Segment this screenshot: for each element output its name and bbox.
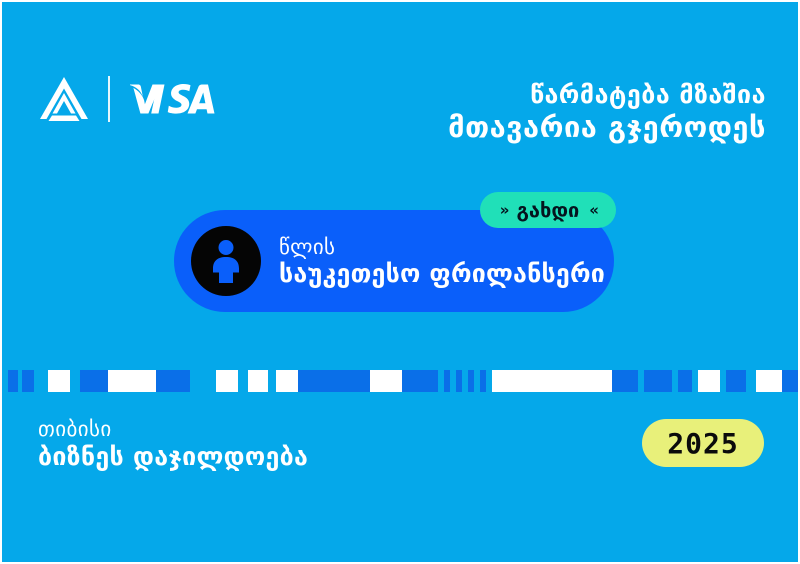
barcode-bar [248, 370, 268, 392]
tbc-triangle-logo [40, 77, 88, 121]
award-block: » გახდი « წლის საუკეთესო ფრილანსერი [2, 192, 800, 327]
barcode-bar [216, 370, 238, 392]
barcode-bar [678, 370, 692, 392]
barcode-bar [612, 370, 638, 392]
barcode-bar [80, 370, 108, 392]
barcode-bar [108, 370, 156, 392]
barcode-bar [492, 370, 612, 392]
footer-title: ბიზნეს დაჯილდოება [38, 442, 308, 472]
banner-header: წარმატება მზაშია მთავარია გჯეროდეს [2, 2, 800, 172]
barcode-bar [190, 370, 216, 392]
year-badge: 2025 [642, 419, 764, 467]
barcode-bar [756, 370, 782, 392]
barcode-bar [402, 370, 438, 392]
barcode-bar [70, 370, 80, 392]
barcode-bar [782, 370, 800, 392]
award-badge-label: გახდი [516, 198, 579, 222]
award-kicker: წლის [279, 235, 605, 259]
brand-divider [108, 76, 110, 122]
brand-lockup [40, 76, 222, 122]
barcode-bar [156, 370, 190, 392]
banner-footer: თიბისი ბიზნეს დაჯილდოება 2025 [2, 407, 800, 477]
award-banner: წარმატება მზაშია მთავარია გჯეროდეს » გახ… [0, 0, 800, 564]
barcode-bar [726, 370, 746, 392]
year-badge-label: 2025 [667, 427, 738, 460]
footer-kicker: თიბისი [38, 417, 308, 442]
barcode-bar [8, 370, 18, 392]
footer-text: თიბისი ბიზნეს დაჯილდოება [38, 417, 308, 472]
chevron-left-double-icon: « [589, 203, 596, 218]
chevron-right-double-icon: » [500, 203, 507, 218]
barcode-bar [370, 370, 402, 392]
visa-logo [130, 82, 222, 116]
barcode-bar [238, 370, 248, 392]
headline-line-2: მთავარია გჯეროდეს [448, 110, 766, 144]
barcode-bar [644, 370, 672, 392]
award-text: წლის საუკეთესო ფრილანსერი [279, 235, 605, 288]
barcode-bar [698, 370, 720, 392]
barcode-strip [2, 370, 800, 392]
award-title: საუკეთესო ფრილანსერი [279, 259, 605, 288]
barcode-bar [298, 370, 370, 392]
headline-line-1: წარმატება მზაშია [448, 80, 766, 110]
person-icon [191, 226, 261, 296]
barcode-bar [746, 370, 756, 392]
barcode-bar [34, 370, 48, 392]
barcode-bar [276, 370, 298, 392]
barcode-bar [22, 370, 34, 392]
headline: წარმატება მზაშია მთავარია გჯეროდეს [448, 80, 766, 144]
barcode-bar [268, 370, 276, 392]
award-badge[interactable]: » გახდი « [480, 192, 616, 228]
barcode-bar [48, 370, 70, 392]
